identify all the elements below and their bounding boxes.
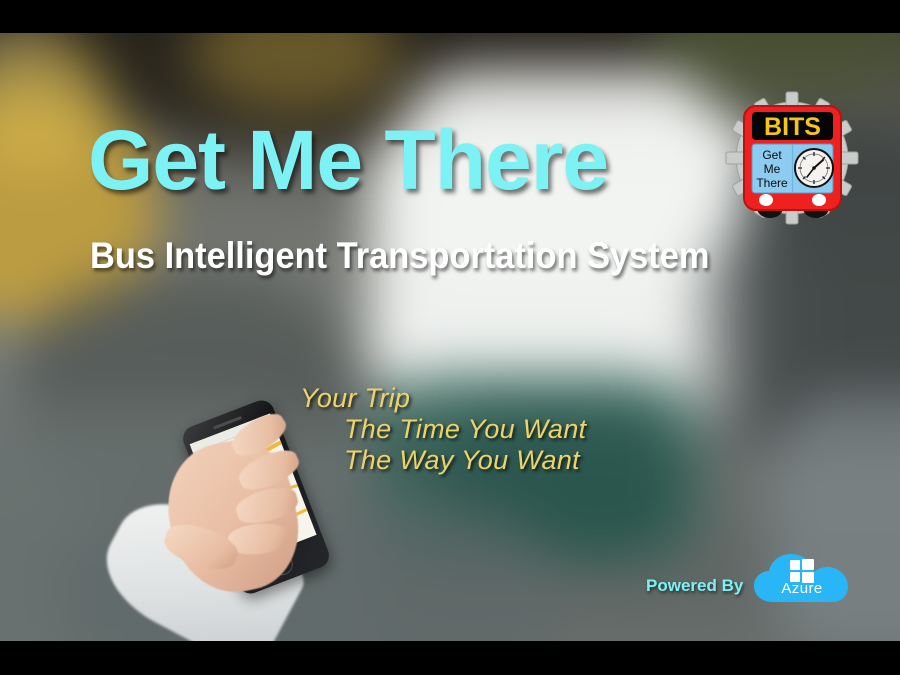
- destination-sign-text: BITS: [764, 113, 821, 141]
- letterbox-top: [0, 0, 900, 33]
- tagline-line-2: The Time You Want: [344, 414, 586, 445]
- presentation-slide: Get Me There Bus Intelligent Transportat…: [0, 0, 900, 675]
- azure-cloud-logo: Azure: [752, 550, 852, 608]
- page-subtitle: Bus Intelligent Transportation System: [90, 235, 709, 277]
- tagline-line-3: The Way You Want: [344, 445, 586, 476]
- bits-logo: BITS Get Me There: [724, 90, 860, 226]
- page-title: Get Me There: [88, 112, 608, 209]
- logo-window-line-3: There: [756, 176, 788, 190]
- destination-sign: BITS: [752, 112, 833, 141]
- azure-label: Azure: [752, 580, 852, 597]
- logo-window-line-1: Get: [762, 148, 782, 162]
- clock-icon: [795, 149, 833, 187]
- logo-window-line-2: Me: [764, 162, 781, 176]
- tagline-block: Your Trip The Time You Want The Way You …: [300, 383, 586, 476]
- tagline-line-1: Your Trip: [300, 383, 586, 414]
- powered-by-label: Powered By: [646, 576, 743, 596]
- letterbox-bottom: [0, 641, 900, 675]
